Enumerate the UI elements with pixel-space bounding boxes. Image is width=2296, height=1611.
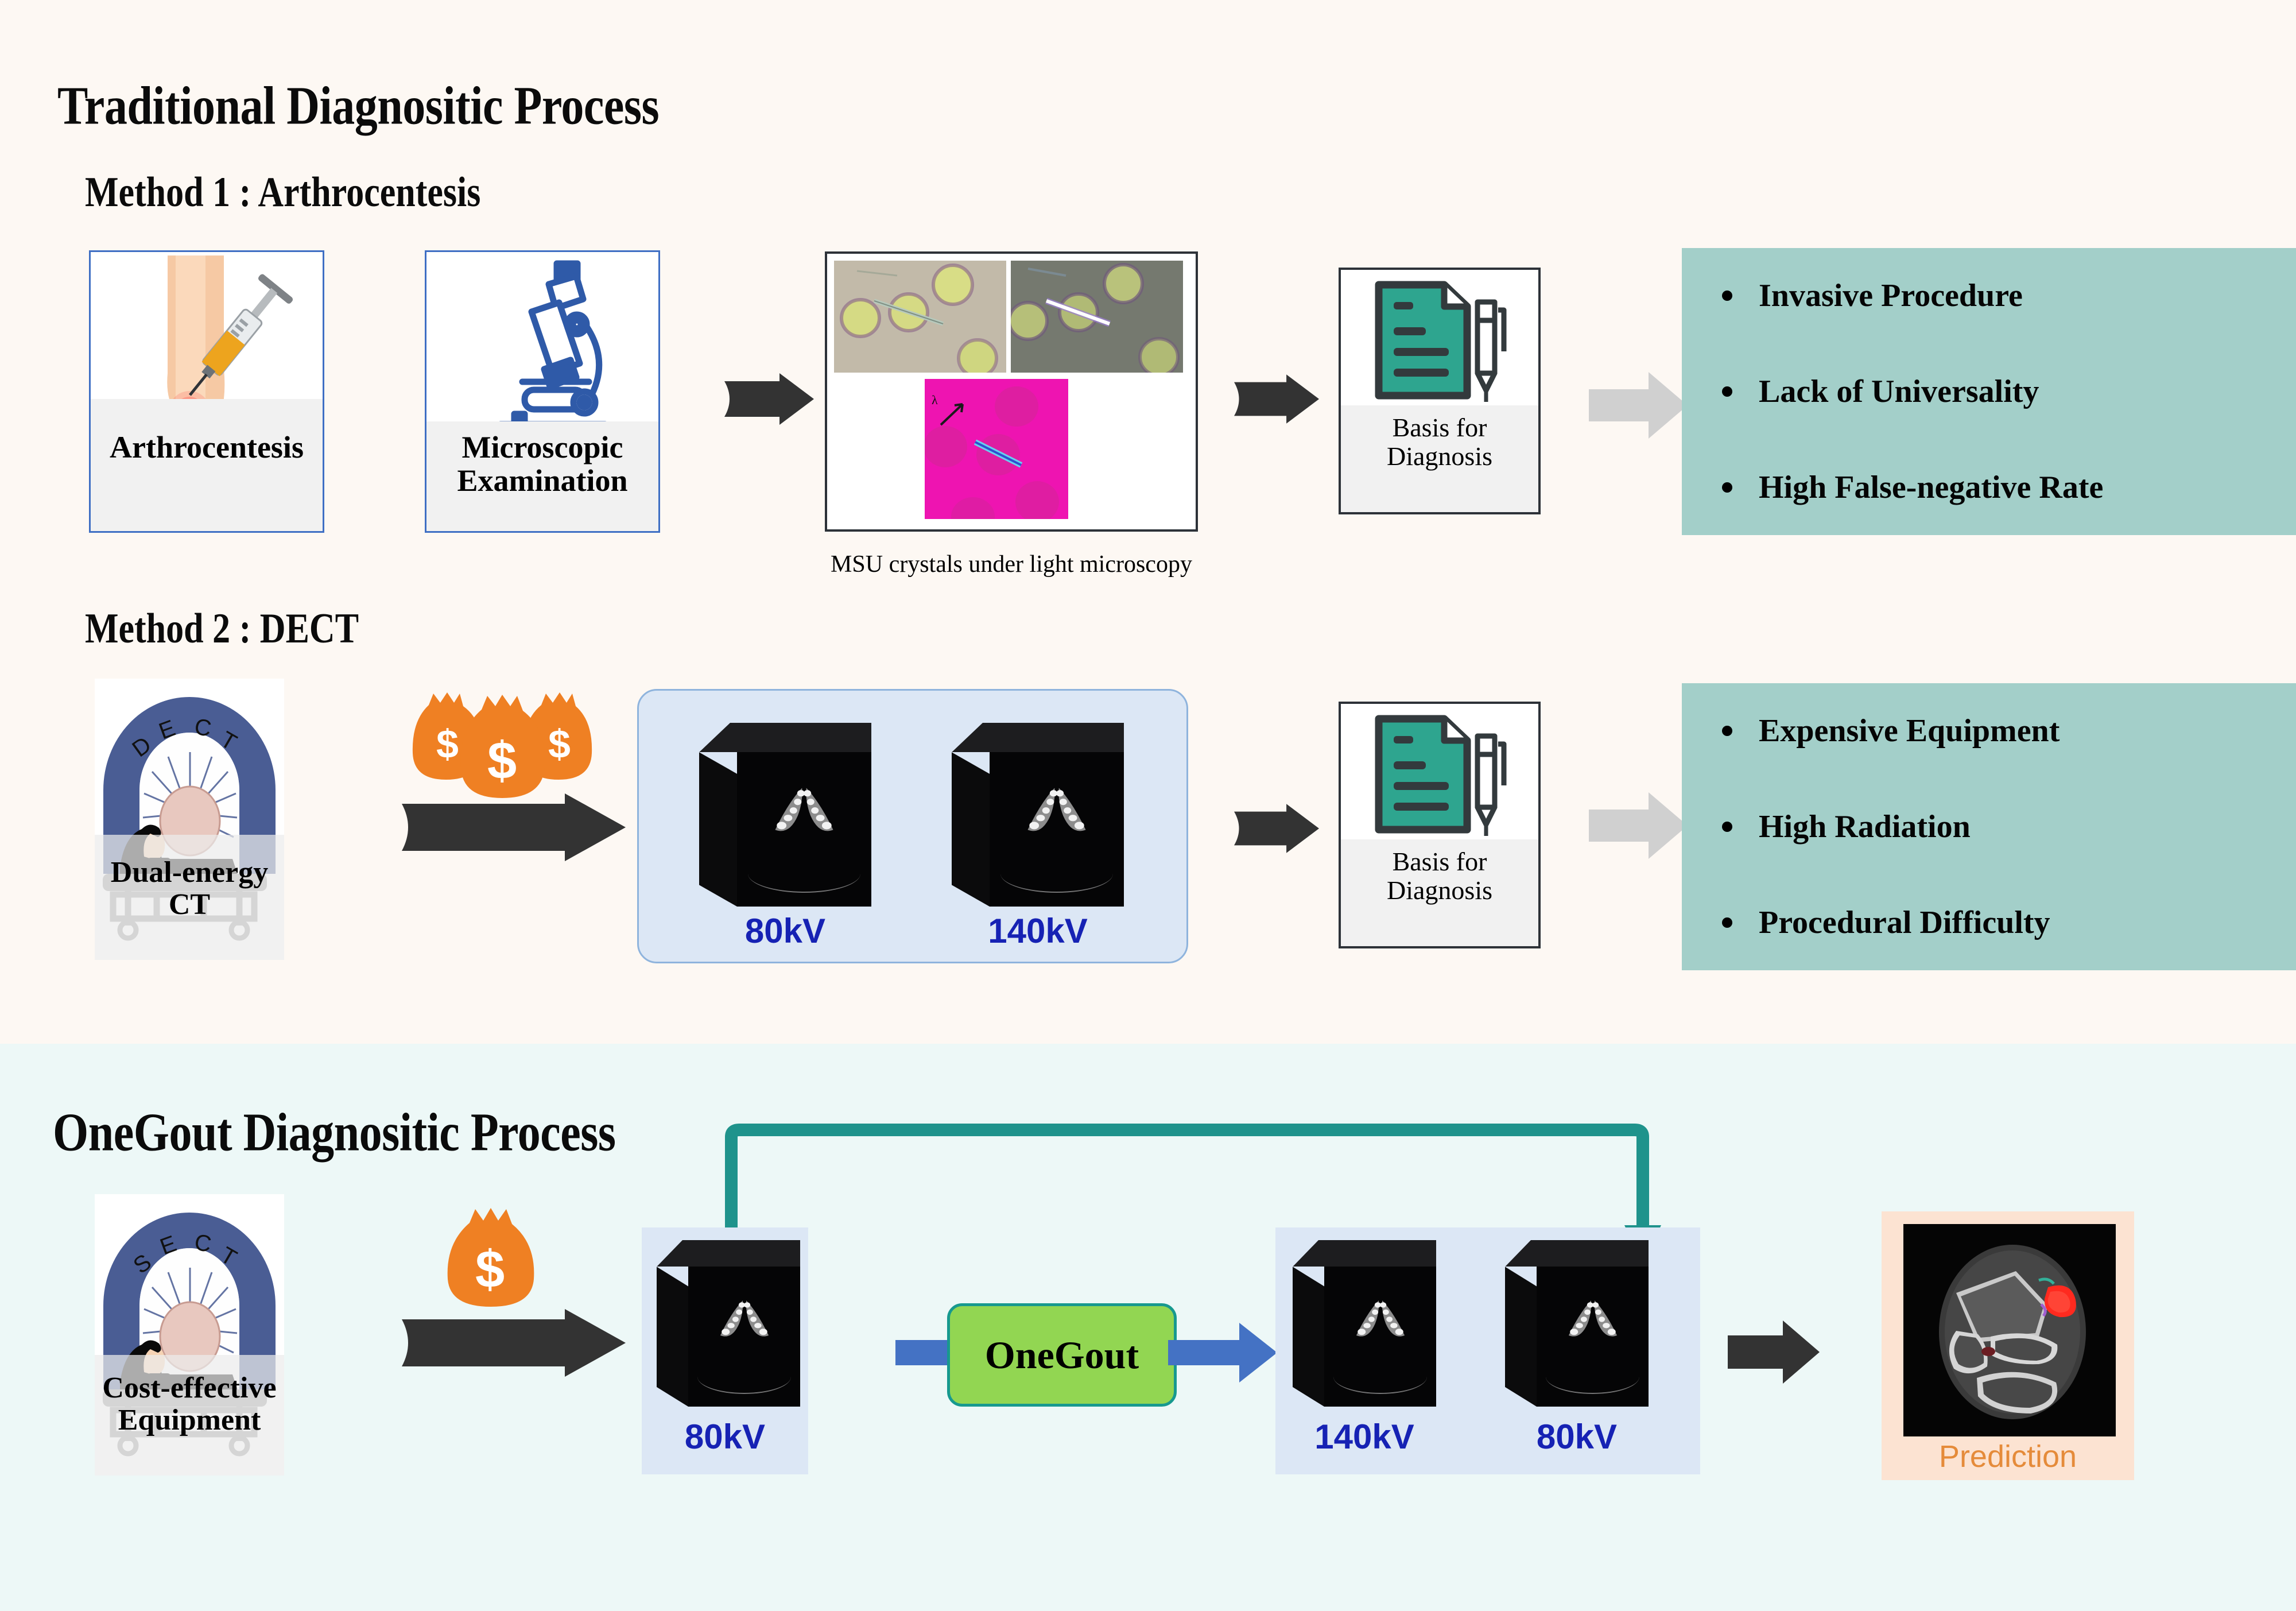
label-line-1: Basis for (1341, 413, 1538, 442)
ct-foot-slice (1003, 772, 1110, 843)
ct-foot-slice (700, 1285, 789, 1349)
bullet-dot-icon (1722, 822, 1732, 832)
ct-foot-slice (1336, 1285, 1425, 1349)
sect-scanner-label: Cost-effective Equipment (95, 1355, 284, 1476)
kv-label-140: 140kV (952, 911, 1124, 951)
prediction-card[interactable]: Prediction (1882, 1211, 2134, 1480)
document-pencil-icon (1371, 278, 1517, 407)
label-line-1: Dual-energy (95, 857, 284, 889)
basis-for-diagnosis-card[interactable]: Basis for Diagnosis (1339, 268, 1541, 514)
prediction-label: Prediction (1882, 1439, 2134, 1474)
label-line-1: Microscopic (426, 431, 658, 464)
onegout-model-label: OneGout (985, 1333, 1139, 1378)
msu-micrograph-card[interactable]: λ (825, 251, 1198, 532)
drawback-item: High Radiation (1722, 779, 2296, 875)
microscope-icon (458, 257, 630, 432)
flow-arrow-grey-icon (1589, 356, 1688, 455)
basis-for-diagnosis-card[interactable]: Basis for Diagnosis (1339, 702, 1541, 948)
microscopic-examination-card-label: Microscopic Examination (426, 421, 658, 531)
flow-arrow-grey-icon (1589, 776, 1688, 875)
bullet-dot-icon (1722, 917, 1732, 928)
svg-text:$: $ (548, 722, 571, 766)
drawback-label: Expensive Equipment (1759, 712, 2060, 749)
basis-for-diagnosis-label: Basis for Diagnosis (1341, 405, 1538, 512)
method1-heading: Method 1 : Arthrocentesis (85, 168, 480, 217)
label-line-2: Equipment (95, 1404, 284, 1436)
flow-arrow-icon (402, 793, 626, 861)
microscopic-examination-card[interactable]: Microscopic Examination (425, 250, 660, 533)
kv-label-80: 80kV (699, 911, 871, 951)
drawback-item: Lack of Universality (1722, 344, 2296, 440)
sect-scanner-card[interactable]: S E C T Cost-effective Equipment (95, 1194, 284, 1476)
drawback-item: High False-negative Rate (1722, 439, 2296, 535)
onegout-input-panel: 80kV (642, 1227, 808, 1474)
onegout-section-title: OneGout Diagnositic Process (53, 1102, 616, 1164)
msu-micrograph-caption: MSU crystals under light microscopy (825, 551, 1198, 578)
label-line-2: CT (95, 889, 284, 921)
label-line-2: Diagnosis (1341, 442, 1538, 471)
ct-cube-output-80kv (1505, 1240, 1649, 1407)
dect-kv-panel: 80kV (637, 689, 1188, 963)
onegout-model-box[interactable]: OneGout (947, 1303, 1177, 1407)
drawback-item: Procedural Difficulty (1722, 874, 2296, 970)
onegout-output-panel: 140kV (1275, 1227, 1700, 1474)
flow-arrow-icon (1234, 803, 1319, 854)
method1-drawbacks-panel: Invasive Procedure Lack of Universality … (1682, 248, 2296, 535)
dect-scanner-label: Dual-energy CT (95, 835, 284, 960)
bullet-dot-icon (1722, 726, 1732, 736)
kv-label-output-80: 80kV (1505, 1417, 1649, 1457)
document-pencil-icon (1371, 712, 1517, 841)
drawback-item: Expensive Equipment (1722, 683, 2296, 779)
flow-arrow-icon (724, 373, 814, 425)
label-line-2: Examination (426, 464, 658, 497)
ct-prediction-image (1903, 1224, 2116, 1436)
label-line-1: Basis for (1341, 847, 1538, 876)
svg-text:λ: λ (932, 393, 938, 407)
ct-cube-input-80kv (657, 1240, 800, 1407)
one-money-bag-icon: $ (442, 1206, 540, 1309)
dect-scanner-card[interactable]: D E C T Dual-energy CT (95, 679, 284, 960)
kv-label-output-140: 140kV (1293, 1417, 1436, 1457)
ct-cube-output-140kv (1293, 1240, 1436, 1407)
label-line-1: Cost-effective (95, 1372, 284, 1404)
three-money-bags-icon: $ $ $ (410, 689, 594, 804)
basis-for-diagnosis-label: Basis for Diagnosis (1341, 839, 1538, 946)
ct-cube-80kv (699, 723, 871, 907)
drawback-label: Invasive Procedure (1759, 277, 2023, 314)
ct-cube-140kv (952, 723, 1124, 907)
kv-label-input-80: 80kV (642, 1417, 808, 1457)
drawback-label: High Radiation (1759, 808, 1971, 845)
micrograph-compensated: λ (925, 379, 1068, 519)
drawback-label: High False-negative Rate (1759, 469, 2103, 506)
bullet-dot-icon (1722, 291, 1732, 301)
ct-foot-slice (1548, 1285, 1638, 1349)
micrograph-polarized (1011, 261, 1183, 373)
svg-text:$: $ (475, 1240, 505, 1299)
onegout-process-section: OneGout Diagnositic Process (0, 1044, 2296, 1611)
drawback-label: Procedural Difficulty (1759, 904, 2050, 941)
label-line-2: Diagnosis (1341, 876, 1538, 905)
arthrocentesis-card-label: Arthrocentesis (91, 399, 323, 531)
drawback-item: Invasive Procedure (1722, 248, 2296, 344)
method2-drawbacks-panel: Expensive Equipment High Radiation Proce… (1682, 683, 2296, 970)
traditional-section-title: Traditional Diagnositic Process (57, 76, 659, 137)
bullet-dot-icon (1722, 482, 1732, 493)
flow-arrow-icon (402, 1309, 626, 1377)
model-output-arrow-icon (1168, 1318, 1277, 1387)
flow-arrow-icon (1728, 1320, 1820, 1384)
drawback-label: Lack of Universality (1759, 373, 2039, 410)
micrograph-brightfield (834, 261, 1006, 373)
ct-foot-slice (750, 772, 858, 843)
arthrocentesis-card[interactable]: Arthrocentesis (89, 250, 324, 533)
svg-text:$: $ (487, 731, 517, 790)
flow-arrow-icon (1234, 373, 1319, 425)
bullet-dot-icon (1722, 386, 1732, 397)
svg-text:$: $ (436, 722, 459, 766)
method2-heading: Method 2 : DECT (85, 605, 359, 653)
traditional-process-section: Traditional Diagnositic Process Method 1… (0, 0, 2296, 1044)
